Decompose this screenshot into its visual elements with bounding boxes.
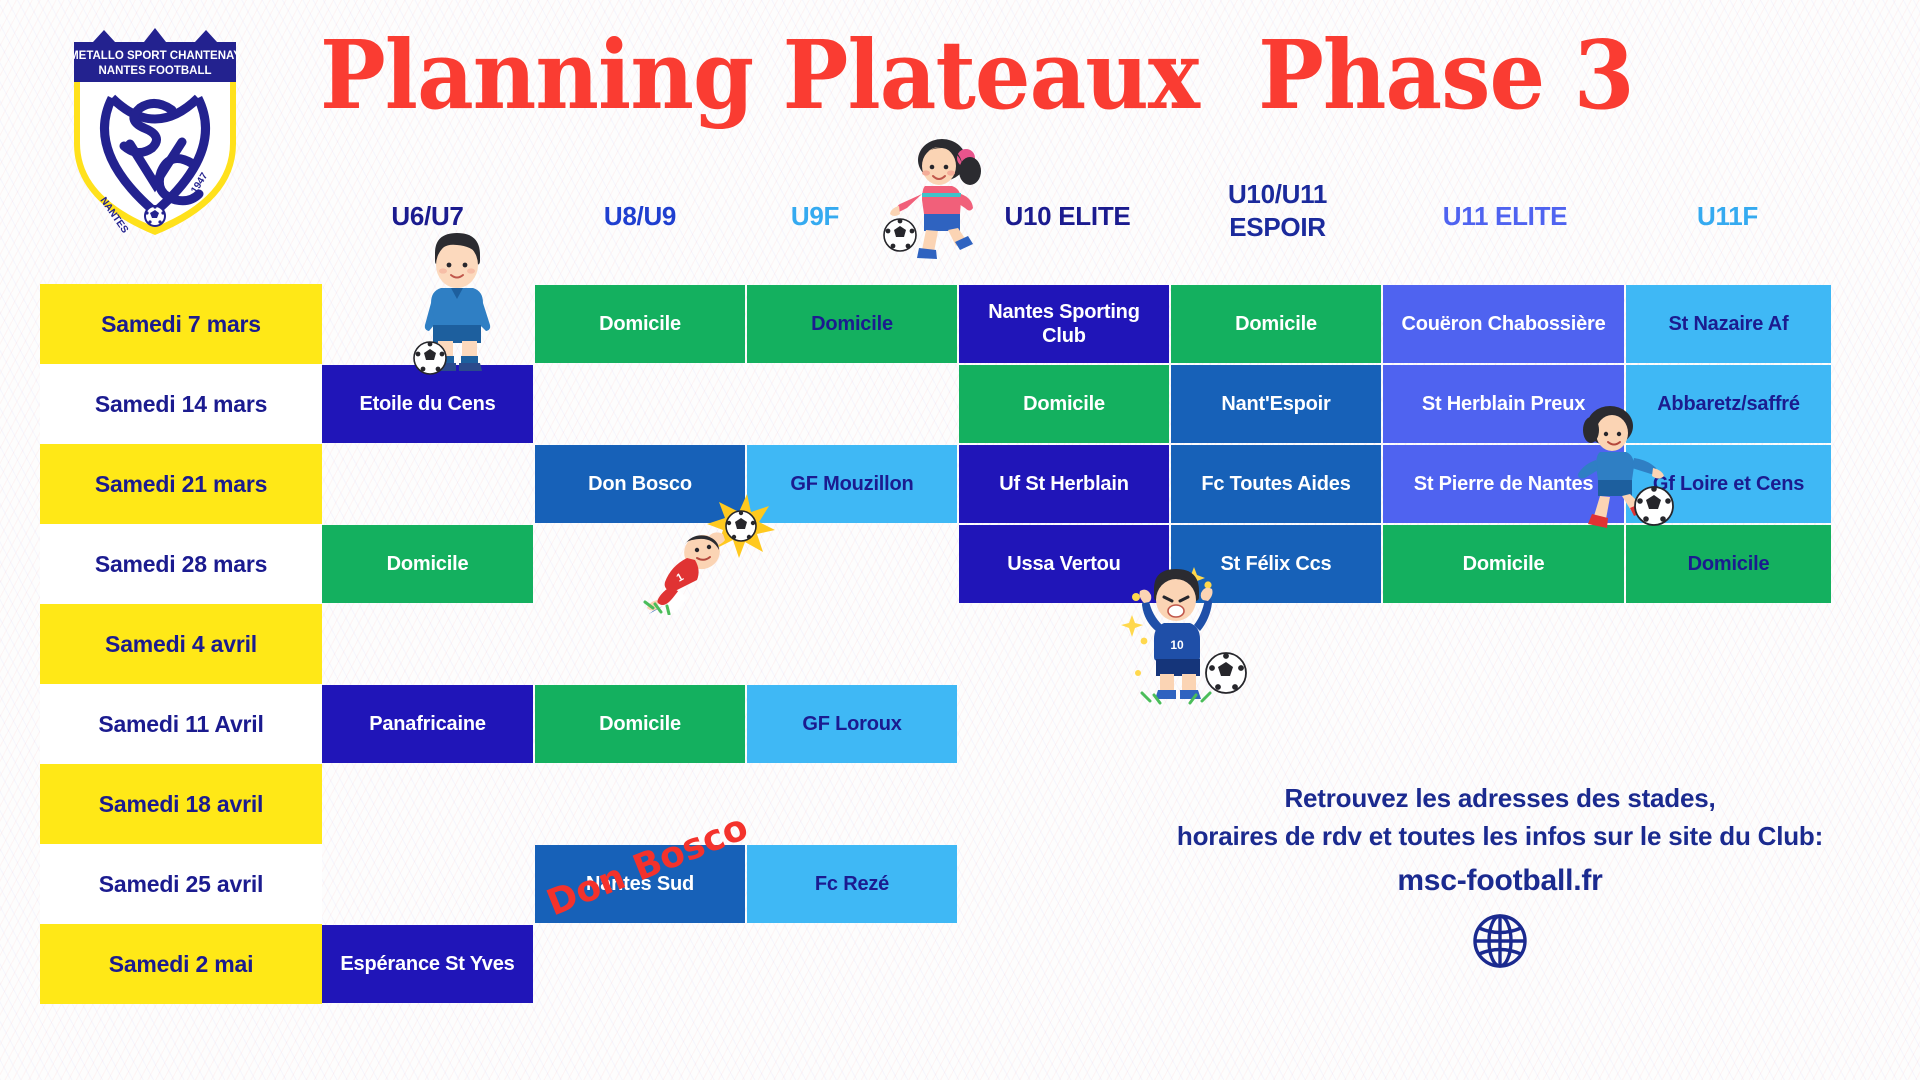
schedule-cell: GF Loroux [747,685,957,763]
schedule-cell-empty [535,365,745,443]
schedule-cell-empty [747,605,957,683]
date-cell: Samedi 14 mars [40,364,322,444]
schedule-cell: Domicile [1626,525,1831,603]
schedule-cell-empty [959,685,1169,763]
schedule-cell-empty [1171,605,1381,683]
schedule-cell-empty [747,925,957,1003]
schedule-cell-empty [959,765,1169,843]
schedule-cell-empty [1626,685,1831,763]
schedule-cell: St Félix Ccs [1171,525,1381,603]
schedule-cell: Etoile du Cens [322,365,533,443]
schedule-cell: Nant'Espoir [1171,365,1381,443]
schedule-cell-empty [959,605,1169,683]
schedule-cell-empty [535,525,745,603]
date-cell: Samedi 4 avril [40,604,322,684]
schedule-cell: Ussa Vertou [959,525,1169,603]
date-cell: Samedi 11 Avril [40,684,322,764]
schedule-cell-empty [322,285,533,363]
schedule-cell-empty [959,845,1169,923]
schedule-cell-empty [535,925,745,1003]
footer-line-2: horaires de rdv et toutes les infos sur … [1150,818,1850,856]
schedule-cell: Nantes Sporting Club [959,285,1169,363]
date-cell: Samedi 25 avril [40,844,322,924]
date-cell: Samedi 18 avril [40,764,322,844]
schedule-cell: St Nazaire Af [1626,285,1831,363]
schedule-cell-empty [322,765,533,843]
schedule-cell: St Pierre de Nantes [1383,445,1624,523]
schedule-cell: Couëron Chabossière [1383,285,1624,363]
schedule-cell-empty [322,845,533,923]
schedule-cell-empty [747,765,957,843]
schedule-cell: Domicile [535,285,745,363]
schedule-cell: Domicile [535,685,745,763]
schedule-cell: Don Bosco [535,445,745,523]
date-cell: Samedi 7 mars [40,284,322,364]
schedule-cell: Fc Toutes Aides [1171,445,1381,523]
schedule-cell-empty [747,365,957,443]
schedule-cell-empty [322,605,533,683]
schedule-cell: Espérance St Yves [322,925,533,1003]
schedule-cell-empty [1626,605,1831,683]
schedule-cell-empty [1171,685,1381,763]
date-cell: Samedi 28 mars [40,524,322,604]
schedule-cell: Domicile [747,285,957,363]
planning-poster: METALLO SPORT CHANTENAY NANTES FOOTBALL … [0,0,1920,1080]
schedule-cell: Domicile [1171,285,1381,363]
schedule-cell: Abbaretz/saffré [1626,365,1831,443]
footer-website[interactable]: msc-football.fr [1150,859,1850,903]
schedule-cell: Fc Rezé [747,845,957,923]
schedule-cell: GF Mouzillon [747,445,957,523]
schedule-cell-empty [322,445,533,523]
schedule-cell-empty [1383,685,1624,763]
schedule-cell: Uf St Herblain [959,445,1169,523]
schedule-cell-empty [747,525,957,603]
schedule-cell: Domicile [1383,525,1624,603]
footer-info: Retrouvez les adresses des stades, horai… [1150,780,1850,984]
schedule-cell: Panafricaine [322,685,533,763]
schedule-cell: St Herblain Preux [1383,365,1624,443]
schedule-cell: Domicile [959,365,1169,443]
schedule-cell: Gf Loire et Cens [1626,445,1831,523]
schedule-cell-empty [959,925,1169,1003]
globe-icon [1150,909,1850,984]
schedule-cell-empty [535,605,745,683]
schedule-cell: Domicile [322,525,533,603]
date-cell: Samedi 2 mai [40,924,322,1004]
schedule-cell-empty [1383,605,1624,683]
footer-line-1: Retrouvez les adresses des stades, [1150,780,1850,818]
date-cell: Samedi 21 mars [40,444,322,524]
